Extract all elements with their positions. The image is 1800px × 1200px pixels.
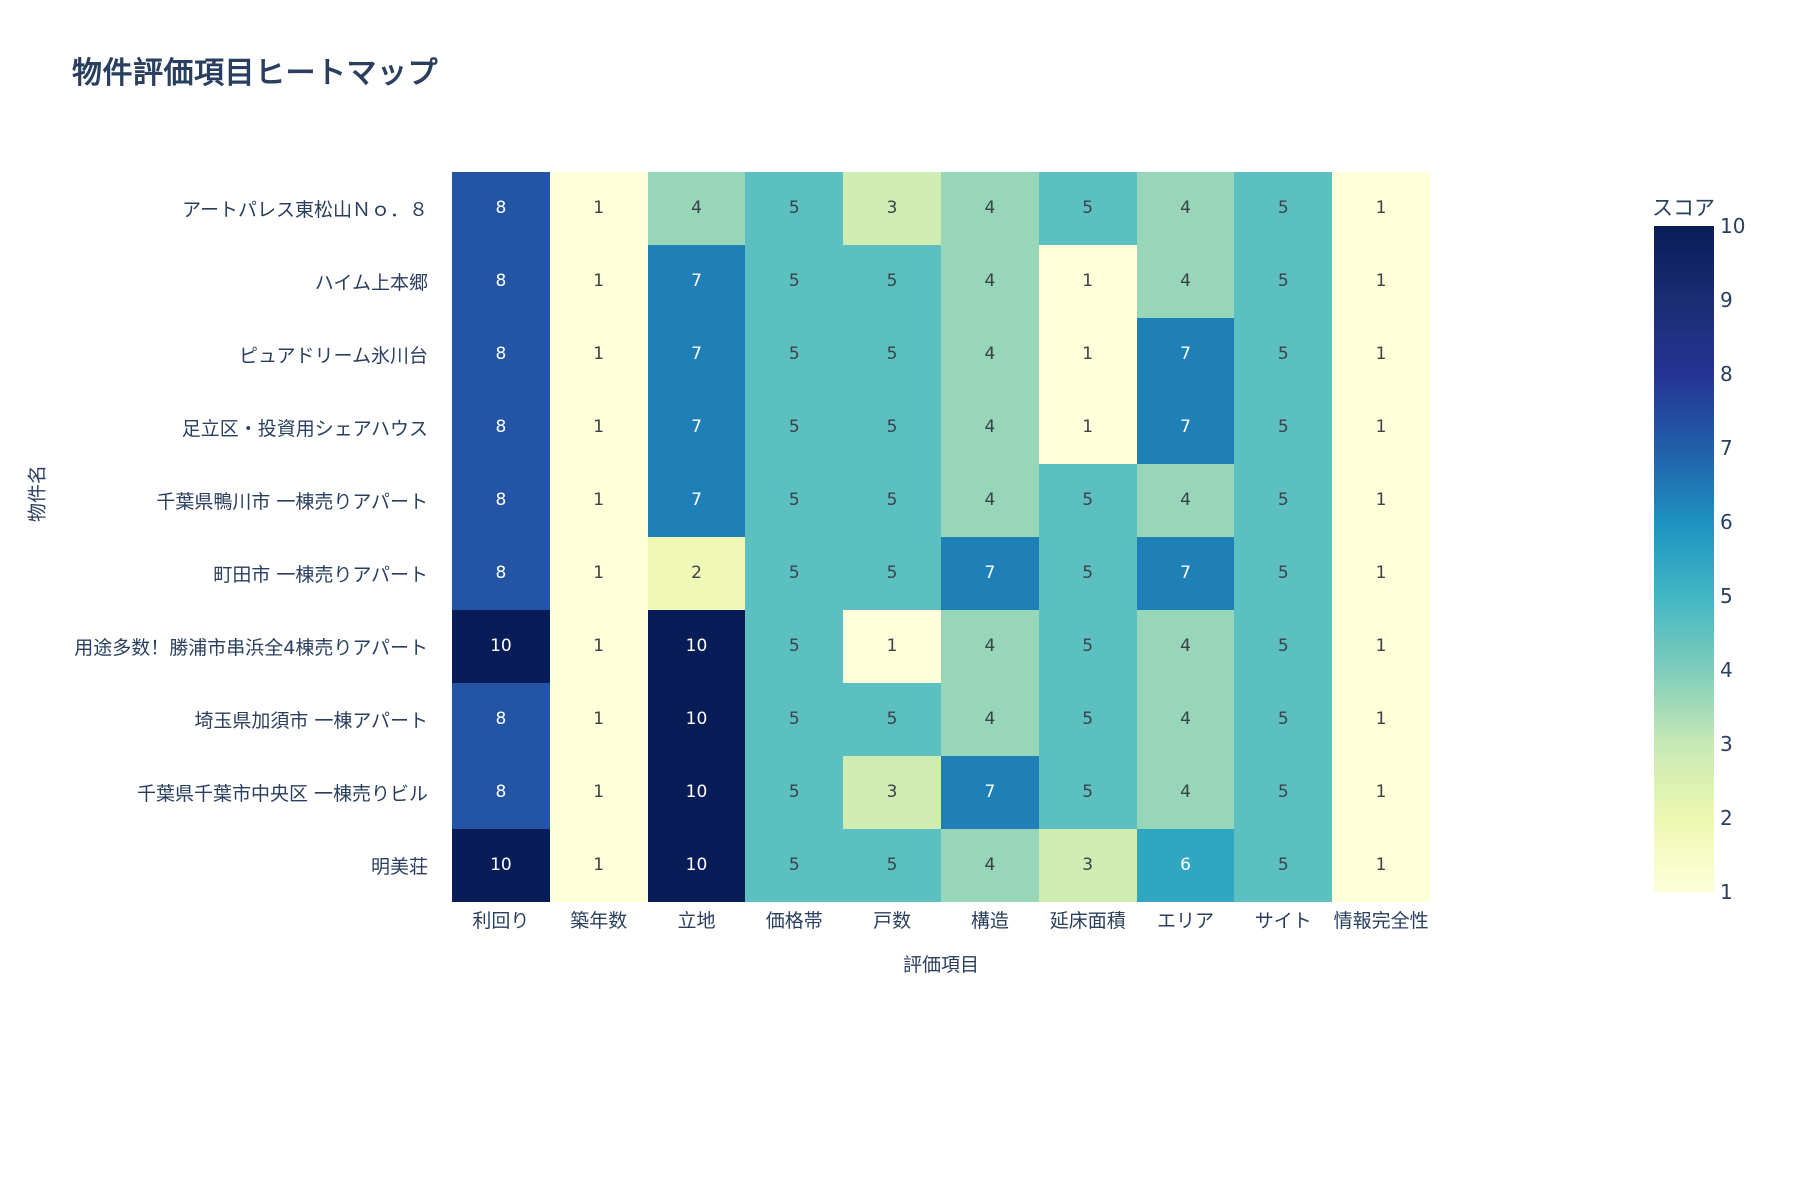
- heatmap-cell[interactable]: 5: [843, 464, 941, 537]
- heatmap-cell[interactable]: 4: [1137, 245, 1235, 318]
- heatmap-cell[interactable]: 1: [550, 172, 648, 245]
- heatmap-cell-value: 1: [1376, 273, 1387, 290]
- heatmap-cell-value: 5: [887, 273, 898, 290]
- heatmap-cell-value: 5: [1278, 200, 1289, 217]
- heatmap-cell[interactable]: 5: [1234, 610, 1332, 683]
- heatmap-cell-value: 4: [1180, 784, 1191, 801]
- y-axis-tick-3: 足立区・投資用シェアハウス: [0, 391, 440, 464]
- colorbar-tick-5: 5: [1720, 584, 1733, 608]
- heatmap-cell[interactable]: 4: [1137, 464, 1235, 537]
- heatmap-cell[interactable]: 10: [648, 756, 746, 829]
- x-axis-tick-6: 延床面積: [1039, 906, 1137, 933]
- heatmap-cell[interactable]: 7: [941, 756, 1039, 829]
- heatmap-cell[interactable]: 4: [941, 391, 1039, 464]
- heatmap-cell-value: 7: [691, 346, 702, 363]
- heatmap-cell[interactable]: 1: [550, 756, 648, 829]
- heatmap-cell[interactable]: 5: [1039, 756, 1137, 829]
- heatmap-cell-value: 1: [1376, 492, 1387, 509]
- heatmap-cell[interactable]: 8: [452, 318, 550, 391]
- heatmap-cell-value: 5: [1278, 492, 1289, 509]
- heatmap-cell-value: 4: [984, 711, 995, 728]
- heatmap-cell[interactable]: 4: [941, 172, 1039, 245]
- colorbar-tick-4: 4: [1720, 658, 1733, 682]
- heatmap-cell-value: 7: [691, 273, 702, 290]
- heatmap-cell-value: 5: [1278, 857, 1289, 874]
- heatmap-cell-value: 10: [686, 784, 708, 801]
- heatmap-cell[interactable]: 5: [1039, 683, 1137, 756]
- heatmap-cell[interactable]: 7: [648, 391, 746, 464]
- heatmap-cell[interactable]: 3: [1039, 829, 1137, 902]
- heatmap-cell-value: 5: [1278, 346, 1289, 363]
- heatmap-cell[interactable]: 1: [1332, 683, 1430, 756]
- heatmap-cell-value: 8: [495, 784, 506, 801]
- heatmap-cell[interactable]: 4: [1137, 610, 1235, 683]
- heatmap-cell-value: 5: [1278, 784, 1289, 801]
- heatmap-cell[interactable]: 7: [941, 537, 1039, 610]
- colorbar-tick-9: 9: [1720, 288, 1733, 312]
- heatmap-cell-value: 1: [593, 200, 604, 217]
- heatmap-cell[interactable]: 5: [745, 172, 843, 245]
- heatmap-cell-value: 4: [1180, 638, 1191, 655]
- heatmap-cell-value: 8: [495, 711, 506, 728]
- colorbar-tick-7: 7: [1720, 436, 1733, 460]
- heatmap-cell-value: 1: [1376, 200, 1387, 217]
- heatmap-cell-value: 3: [887, 784, 898, 801]
- heatmap-cell-value: 1: [1376, 638, 1387, 655]
- heatmap-cell[interactable]: 1: [550, 318, 648, 391]
- heatmap-cell[interactable]: 1: [1332, 391, 1430, 464]
- heatmap-cell[interactable]: 5: [1039, 610, 1137, 683]
- heatmap-cell[interactable]: 1: [1332, 829, 1430, 902]
- heatmap-cell[interactable]: 10: [648, 610, 746, 683]
- x-axis-tick-0: 利回り: [452, 906, 550, 933]
- heatmap-cell-value: 1: [593, 638, 604, 655]
- heatmap-cell[interactable]: 1: [550, 610, 648, 683]
- heatmap-cell[interactable]: 1: [1039, 391, 1137, 464]
- heatmap-cell[interactable]: 4: [941, 318, 1039, 391]
- heatmap-cell-value: 1: [593, 346, 604, 363]
- heatmap-cell[interactable]: 5: [745, 683, 843, 756]
- heatmap-cell[interactable]: 1: [550, 829, 648, 902]
- heatmap-cell-value: 4: [1180, 711, 1191, 728]
- heatmap-cell[interactable]: 5: [843, 537, 941, 610]
- heatmap-cell[interactable]: 5: [745, 610, 843, 683]
- heatmap-cell[interactable]: 4: [941, 245, 1039, 318]
- heatmap-cell-value: 1: [1082, 346, 1093, 363]
- y-axis-tick-8: 千葉県千葉市中央区 一棟売りビル: [0, 756, 440, 829]
- y-axis-tick-9: 明美荘: [0, 829, 440, 902]
- heatmap-cell[interactable]: 7: [648, 318, 746, 391]
- heatmap-cell[interactable]: 5: [745, 829, 843, 902]
- heatmap-cell[interactable]: 5: [1234, 318, 1332, 391]
- colorbar-tick-3: 3: [1720, 732, 1733, 756]
- colorbar-gradient: [1654, 226, 1714, 892]
- heatmap-cell[interactable]: 1: [550, 537, 648, 610]
- heatmap-cell-value: 1: [593, 273, 604, 290]
- heatmap-cell[interactable]: 5: [1234, 537, 1332, 610]
- heatmap-cell-value: 8: [495, 346, 506, 363]
- heatmap-cell-value: 1: [1376, 857, 1387, 874]
- heatmap-cell-value: 4: [691, 200, 702, 217]
- heatmap-cell[interactable]: 5: [1234, 756, 1332, 829]
- heatmap-plot: 8145345451817554145181755417518175541751…: [452, 172, 1430, 902]
- heatmap-cell-value: 5: [1278, 273, 1289, 290]
- heatmap-cell[interactable]: 5: [745, 391, 843, 464]
- heatmap-cell-value: 5: [887, 346, 898, 363]
- x-axis-tick-9: 情報完全性: [1332, 906, 1430, 933]
- heatmap-cell[interactable]: 5: [745, 318, 843, 391]
- heatmap-cell-value: 5: [1082, 492, 1093, 509]
- heatmap-cell[interactable]: 8: [452, 464, 550, 537]
- heatmap-cell-value: 2: [691, 565, 702, 582]
- heatmap-cell-value: 1: [593, 565, 604, 582]
- heatmap-cell-value: 5: [1082, 200, 1093, 217]
- heatmap-cell-value: 1: [1376, 419, 1387, 436]
- heatmap-cell[interactable]: 5: [843, 683, 941, 756]
- heatmap-cell-value: 4: [984, 857, 995, 874]
- heatmap-cell-value: 5: [789, 784, 800, 801]
- heatmap-cell[interactable]: 5: [1234, 829, 1332, 902]
- heatmap-cell-value: 4: [984, 492, 995, 509]
- heatmap-cell[interactable]: 4: [1137, 172, 1235, 245]
- heatmap-cell-value: 5: [789, 857, 800, 874]
- heatmap-cell-value: 1: [887, 638, 898, 655]
- y-axis-tick-labels: アートパレス東松山Ｎｏ．８ハイム上本郷ピュアドリーム氷川台足立区・投資用シェアハ…: [0, 172, 440, 902]
- heatmap-cell-value: 5: [1278, 711, 1289, 728]
- heatmap-cell-value: 10: [686, 638, 708, 655]
- y-axis-tick-2: ピュアドリーム氷川台: [0, 318, 440, 391]
- heatmap-cell-value: 3: [1082, 857, 1093, 874]
- heatmap-cell[interactable]: 4: [941, 683, 1039, 756]
- heatmap-cell[interactable]: 5: [745, 756, 843, 829]
- heatmap-cell[interactable]: 4: [648, 172, 746, 245]
- heatmap-cell[interactable]: 4: [1137, 756, 1235, 829]
- heatmap-cell-value: 5: [789, 273, 800, 290]
- x-axis-tick-7: エリア: [1137, 906, 1235, 933]
- heatmap-cell-value: 5: [789, 638, 800, 655]
- heatmap-cell[interactable]: 5: [745, 537, 843, 610]
- heatmap-cell[interactable]: 8: [452, 245, 550, 318]
- heatmap-cell[interactable]: 1: [1332, 756, 1430, 829]
- heatmap-cell[interactable]: 5: [1234, 464, 1332, 537]
- heatmap-cell-value: 4: [984, 273, 995, 290]
- heatmap-cell[interactable]: 2: [648, 537, 746, 610]
- page-title: 物件評価項目ヒートマップ: [72, 48, 438, 92]
- heatmap-cell-value: 6: [1180, 857, 1191, 874]
- heatmap-cell-value: 5: [789, 419, 800, 436]
- heatmap-cell[interactable]: 1: [1332, 172, 1430, 245]
- heatmap-cell-value: 5: [1278, 565, 1289, 582]
- heatmap-cell-value: 5: [789, 200, 800, 217]
- heatmap-cell-value: 5: [887, 419, 898, 436]
- heatmap-cell[interactable]: 7: [1137, 318, 1235, 391]
- colorbar-tick-1: 1: [1720, 880, 1733, 904]
- heatmap-cell-value: 1: [1376, 346, 1387, 363]
- heatmap-cell-value: 5: [789, 346, 800, 363]
- heatmap-cell-value: 7: [1180, 346, 1191, 363]
- heatmap-cell[interactable]: 1: [1332, 537, 1430, 610]
- heatmap-cell[interactable]: 5: [1039, 464, 1137, 537]
- heatmap-cell-value: 4: [984, 419, 995, 436]
- heatmap-cell[interactable]: 1: [1332, 318, 1430, 391]
- heatmap-cell[interactable]: 8: [452, 537, 550, 610]
- heatmap-cell-value: 1: [1376, 711, 1387, 728]
- heatmap-cell-value: 5: [1082, 638, 1093, 655]
- heatmap-cell[interactable]: 7: [648, 464, 746, 537]
- heatmap-cell[interactable]: 7: [1137, 537, 1235, 610]
- heatmap-cell[interactable]: 1: [550, 245, 648, 318]
- heatmap-cell-value: 10: [686, 857, 708, 874]
- heatmap-cell-value: 4: [984, 346, 995, 363]
- heatmap-cell-value: 5: [1082, 711, 1093, 728]
- heatmap-cell[interactable]: 5: [1234, 172, 1332, 245]
- heatmap-cell-value: 1: [593, 711, 604, 728]
- heatmap-cell-value: 7: [1180, 419, 1191, 436]
- heatmap-cell-value: 7: [691, 419, 702, 436]
- y-axis-tick-7: 埼玉県加須市 一棟アパート: [0, 683, 440, 756]
- heatmap-cell-value: 4: [984, 638, 995, 655]
- heatmap-cell[interactable]: 1: [1332, 464, 1430, 537]
- heatmap-cell-value: 7: [1180, 565, 1191, 582]
- heatmap-cell[interactable]: 5: [745, 464, 843, 537]
- heatmap-cell[interactable]: 8: [452, 172, 550, 245]
- heatmap-cell[interactable]: 8: [452, 391, 550, 464]
- heatmap-cell-value: 10: [490, 638, 512, 655]
- heatmap-cell-value: 10: [490, 857, 512, 874]
- heatmap-cell[interactable]: 6: [1137, 829, 1235, 902]
- heatmap-cell[interactable]: 7: [1137, 391, 1235, 464]
- x-axis-tick-2: 立地: [648, 906, 746, 933]
- heatmap-cell-value: 5: [789, 492, 800, 509]
- heatmap-cell-value: 7: [984, 565, 995, 582]
- heatmap-cell[interactable]: 10: [648, 829, 746, 902]
- heatmap-cell[interactable]: 5: [843, 245, 941, 318]
- x-axis-tick-3: 価格帯: [745, 906, 843, 933]
- heatmap-cell-value: 7: [984, 784, 995, 801]
- heatmap-cell-value: 1: [1082, 273, 1093, 290]
- heatmap-cell-value: 5: [887, 565, 898, 582]
- heatmap-cell[interactable]: 5: [1234, 245, 1332, 318]
- heatmap-cell[interactable]: 1: [550, 464, 648, 537]
- heatmap-cell[interactable]: 1: [1039, 318, 1137, 391]
- heatmap-cell-value: 8: [495, 200, 506, 217]
- colorbar-title: スコア: [1652, 192, 1715, 222]
- heatmap-cell-value: 5: [887, 492, 898, 509]
- heatmap-cell[interactable]: 3: [843, 172, 941, 245]
- y-axis-tick-5: 町田市 一棟売りアパート: [0, 537, 440, 610]
- heatmap-cell-value: 1: [593, 784, 604, 801]
- colorbar-tick-10: 10: [1720, 214, 1745, 238]
- heatmap-cell[interactable]: 1: [550, 683, 648, 756]
- heatmap-cell-value: 1: [1376, 784, 1387, 801]
- heatmap-cell[interactable]: 8: [452, 683, 550, 756]
- heatmap-cell-value: 8: [495, 273, 506, 290]
- y-axis-tick-0: アートパレス東松山Ｎｏ．８: [0, 172, 440, 245]
- heatmap-cell-value: 10: [686, 711, 708, 728]
- heatmap-cell-value: 1: [593, 857, 604, 874]
- heatmap-cell[interactable]: 1: [1332, 245, 1430, 318]
- y-axis-tick-6: 用途多数！勝浦市串浜全4棟売りアパート: [0, 610, 440, 683]
- heatmap-cell-value: 5: [1082, 565, 1093, 582]
- heatmap-cell-value: 5: [1082, 784, 1093, 801]
- heatmap-cell[interactable]: 5: [1234, 391, 1332, 464]
- colorbar-tick-2: 2: [1720, 806, 1733, 830]
- heatmap-cell[interactable]: 4: [941, 829, 1039, 902]
- heatmap-cell[interactable]: 5: [1039, 172, 1137, 245]
- colorbar-tick-6: 6: [1720, 510, 1733, 534]
- heatmap-cell[interactable]: 4: [941, 464, 1039, 537]
- heatmap-cell-value: 5: [789, 565, 800, 582]
- heatmap-cell-value: 8: [495, 565, 506, 582]
- heatmap-cell[interactable]: 10: [452, 610, 550, 683]
- heatmap-cell[interactable]: 1: [1039, 245, 1137, 318]
- heatmap-cell-value: 4: [1180, 492, 1191, 509]
- heatmap-cell[interactable]: 5: [745, 245, 843, 318]
- heatmap-cell[interactable]: 7: [648, 245, 746, 318]
- x-axis-tick-4: 戸数: [843, 906, 941, 933]
- heatmap-cell-value: 1: [593, 492, 604, 509]
- heatmap-grid: 8145345451817554145181755417518175541751…: [452, 172, 1430, 902]
- heatmap-cell[interactable]: 5: [1039, 537, 1137, 610]
- x-axis-tick-5: 構造: [941, 906, 1039, 933]
- heatmap-cell-value: 5: [887, 857, 898, 874]
- x-axis-tick-labels: 利回り築年数立地価格帯戸数構造延床面積エリアサイト情報完全性: [452, 906, 1430, 933]
- y-axis-tick-4: 千葉県鴨川市 一棟売りアパート: [0, 464, 440, 537]
- heatmap-cell[interactable]: 5: [843, 391, 941, 464]
- y-axis-tick-1: ハイム上本郷: [0, 245, 440, 318]
- heatmap-cell[interactable]: 1: [843, 610, 941, 683]
- heatmap-cell[interactable]: 1: [1332, 610, 1430, 683]
- x-axis-tick-8: サイト: [1234, 906, 1332, 933]
- heatmap-cell[interactable]: 4: [941, 610, 1039, 683]
- heatmap-cell[interactable]: 10: [648, 683, 746, 756]
- heatmap-cell-value: 4: [984, 200, 995, 217]
- heatmap-cell-value: 4: [1180, 200, 1191, 217]
- heatmap-cell-value: 5: [1278, 638, 1289, 655]
- x-axis-title: 評価項目: [452, 950, 1430, 977]
- heatmap-cell[interactable]: 4: [1137, 683, 1235, 756]
- heatmap-cell[interactable]: 5: [843, 829, 941, 902]
- heatmap-cell-value: 5: [887, 711, 898, 728]
- heatmap-cell-value: 1: [1082, 419, 1093, 436]
- colorbar-tick-8: 8: [1720, 362, 1733, 386]
- heatmap-cell-value: 1: [1376, 565, 1387, 582]
- x-axis-tick-1: 築年数: [550, 906, 648, 933]
- heatmap-cell-value: 5: [789, 711, 800, 728]
- heatmap-cell-value: 1: [593, 419, 604, 436]
- heatmap-cell[interactable]: 5: [843, 318, 941, 391]
- heatmap-cell-value: 4: [1180, 273, 1191, 290]
- heatmap-cell[interactable]: 3: [843, 756, 941, 829]
- heatmap-cell[interactable]: 10: [452, 829, 550, 902]
- heatmap-cell[interactable]: 8: [452, 756, 550, 829]
- heatmap-cell-value: 7: [691, 492, 702, 509]
- heatmap-cell-value: 5: [1278, 419, 1289, 436]
- heatmap-cell-value: 8: [495, 419, 506, 436]
- heatmap-cell[interactable]: 5: [1234, 683, 1332, 756]
- heatmap-cell[interactable]: 1: [550, 391, 648, 464]
- colorbar-tick-labels: 10987654321: [1720, 226, 1780, 892]
- heatmap-cell-value: 3: [887, 200, 898, 217]
- heatmap-cell-value: 8: [495, 492, 506, 509]
